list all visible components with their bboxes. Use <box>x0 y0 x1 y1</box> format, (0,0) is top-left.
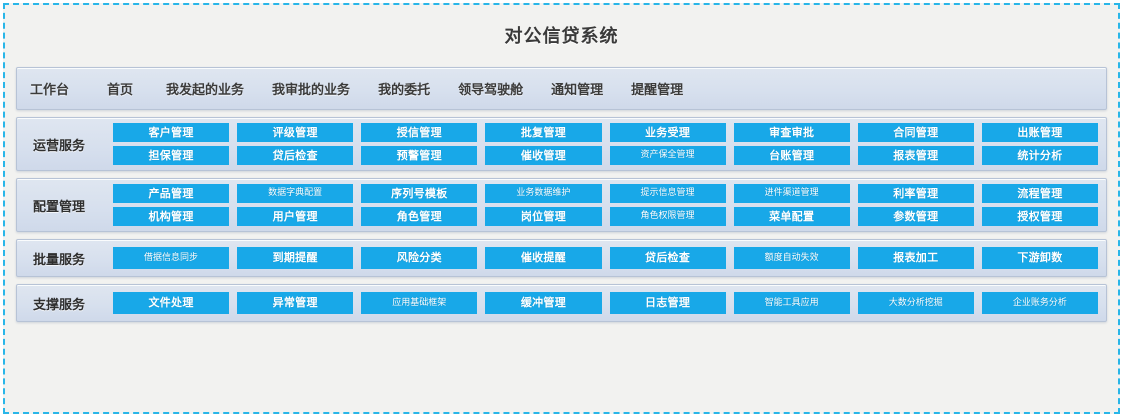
menu-tile[interactable]: 审查审批 <box>734 123 850 142</box>
menu-tile[interactable]: 文件处理 <box>113 292 229 314</box>
menu-tile[interactable]: 产品管理 <box>113 184 229 203</box>
menu-tile[interactable]: 参数管理 <box>858 207 974 226</box>
menu-tile[interactable]: 业务数据维护 <box>485 184 601 203</box>
page-title: 对公信贷系统 <box>5 5 1118 67</box>
module-label-configuration: 配置管理 <box>25 196 113 215</box>
menu-tile[interactable]: 进件渠道管理 <box>734 184 850 203</box>
menu-tile[interactable]: 预警管理 <box>361 146 477 165</box>
menu-tile[interactable]: 报表加工 <box>858 247 974 269</box>
menu-tile[interactable]: 统计分析 <box>982 146 1098 165</box>
menu-tile[interactable]: 授信管理 <box>361 123 477 142</box>
nav-item-1[interactable]: 首页 <box>107 79 133 98</box>
nav-item-3[interactable]: 我审批的业务 <box>272 79 350 98</box>
menu-tile[interactable]: 台账管理 <box>734 146 850 165</box>
tile-row: 文件处理异常管理应用基础框架缓冲管理日志管理智能工具应用大数分析挖掘企业账务分析 <box>113 292 1098 314</box>
tile-row: 产品管理数据字典配置序列号模板业务数据维护提示信息管理进件渠道管理利率管理流程管… <box>113 184 1098 203</box>
menu-tile[interactable]: 应用基础框架 <box>361 292 477 314</box>
module-label-operations: 运营服务 <box>25 135 113 154</box>
menu-tile[interactable]: 资产保全管理 <box>610 146 726 165</box>
menu-tile[interactable]: 智能工具应用 <box>734 292 850 314</box>
menu-tile[interactable]: 风险分类 <box>361 247 477 269</box>
menu-tile[interactable]: 贷后检查 <box>237 146 353 165</box>
module-label-batch: 批量服务 <box>25 249 113 268</box>
nav-item-4[interactable]: 我的委托 <box>378 79 430 98</box>
module-panel-support: 支撑服务文件处理异常管理应用基础框架缓冲管理日志管理智能工具应用大数分析挖掘企业… <box>16 284 1107 322</box>
menu-tile[interactable]: 角色权限管理 <box>610 207 726 226</box>
menu-tile[interactable]: 客户管理 <box>113 123 229 142</box>
top-navigation: 工作台首页我发起的业务我审批的业务我的委托领导驾驶舱通知管理提醒管理 <box>16 67 1107 110</box>
menu-tile[interactable]: 批复管理 <box>485 123 601 142</box>
nav-item-5[interactable]: 领导驾驶舱 <box>458 79 523 98</box>
menu-tile[interactable]: 提示信息管理 <box>610 184 726 203</box>
menu-tile[interactable]: 出账管理 <box>982 123 1098 142</box>
module-panel-configuration: 配置管理产品管理数据字典配置序列号模板业务数据维护提示信息管理进件渠道管理利率管… <box>16 178 1107 232</box>
menu-tile[interactable]: 日志管理 <box>610 292 726 314</box>
menu-tile[interactable]: 报表管理 <box>858 146 974 165</box>
module-grid-configuration: 产品管理数据字典配置序列号模板业务数据维护提示信息管理进件渠道管理利率管理流程管… <box>113 184 1098 226</box>
nav-item-7[interactable]: 提醒管理 <box>631 79 683 98</box>
nav-item-6[interactable]: 通知管理 <box>551 79 603 98</box>
menu-tile[interactable]: 利率管理 <box>858 184 974 203</box>
menu-tile[interactable]: 缓冲管理 <box>485 292 601 314</box>
menu-tile[interactable]: 评级管理 <box>237 123 353 142</box>
module-grid-operations: 客户管理评级管理授信管理批复管理业务受理审查审批合同管理出账管理担保管理贷后检查… <box>113 123 1098 165</box>
menu-tile[interactable]: 合同管理 <box>858 123 974 142</box>
tile-row: 担保管理贷后检查预警管理催收管理资产保全管理台账管理报表管理统计分析 <box>113 146 1098 165</box>
nav-item-0[interactable]: 工作台 <box>30 79 69 98</box>
menu-tile[interactable]: 异常管理 <box>237 292 353 314</box>
module-panel-operations: 运营服务客户管理评级管理授信管理批复管理业务受理审查审批合同管理出账管理担保管理… <box>16 117 1107 171</box>
module-label-support: 支撑服务 <box>25 294 113 313</box>
menu-tile[interactable]: 借据信息同步 <box>113 247 229 269</box>
tile-row: 借据信息同步到期提醒风险分类催收提醒贷后检查额度自动失效报表加工下游卸数 <box>113 247 1098 269</box>
menu-tile[interactable]: 下游卸数 <box>982 247 1098 269</box>
menu-tile[interactable]: 大数分析挖掘 <box>858 292 974 314</box>
tile-row: 客户管理评级管理授信管理批复管理业务受理审查审批合同管理出账管理 <box>113 123 1098 142</box>
menu-tile[interactable]: 流程管理 <box>982 184 1098 203</box>
menu-tile[interactable]: 角色管理 <box>361 207 477 226</box>
menu-tile[interactable]: 机构管理 <box>113 207 229 226</box>
menu-tile[interactable]: 额度自动失效 <box>734 247 850 269</box>
menu-tile[interactable]: 催收管理 <box>485 146 601 165</box>
menu-tile[interactable]: 企业账务分析 <box>982 292 1098 314</box>
menu-tile[interactable]: 业务受理 <box>610 123 726 142</box>
module-grid-batch: 借据信息同步到期提醒风险分类催收提醒贷后检查额度自动失效报表加工下游卸数 <box>113 247 1098 269</box>
menu-tile[interactable]: 序列号模板 <box>361 184 477 203</box>
module-grid-support: 文件处理异常管理应用基础框架缓冲管理日志管理智能工具应用大数分析挖掘企业账务分析 <box>113 292 1098 314</box>
module-list: 运营服务客户管理评级管理授信管理批复管理业务受理审查审批合同管理出账管理担保管理… <box>5 117 1118 322</box>
menu-tile[interactable]: 授权管理 <box>982 207 1098 226</box>
menu-tile[interactable]: 岗位管理 <box>485 207 601 226</box>
tile-row: 机构管理用户管理角色管理岗位管理角色权限管理菜单配置参数管理授权管理 <box>113 207 1098 226</box>
menu-tile[interactable]: 菜单配置 <box>734 207 850 226</box>
menu-tile[interactable]: 贷后检查 <box>610 247 726 269</box>
menu-tile[interactable]: 到期提醒 <box>237 247 353 269</box>
nav-item-2[interactable]: 我发起的业务 <box>166 79 244 98</box>
menu-tile[interactable]: 催收提醒 <box>485 247 601 269</box>
menu-tile[interactable]: 用户管理 <box>237 207 353 226</box>
module-panel-batch: 批量服务借据信息同步到期提醒风险分类催收提醒贷后检查额度自动失效报表加工下游卸数 <box>16 239 1107 277</box>
menu-tile[interactable]: 数据字典配置 <box>237 184 353 203</box>
page-frame: 对公信贷系统 工作台首页我发起的业务我审批的业务我的委托领导驾驶舱通知管理提醒管… <box>3 3 1120 414</box>
menu-tile[interactable]: 担保管理 <box>113 146 229 165</box>
